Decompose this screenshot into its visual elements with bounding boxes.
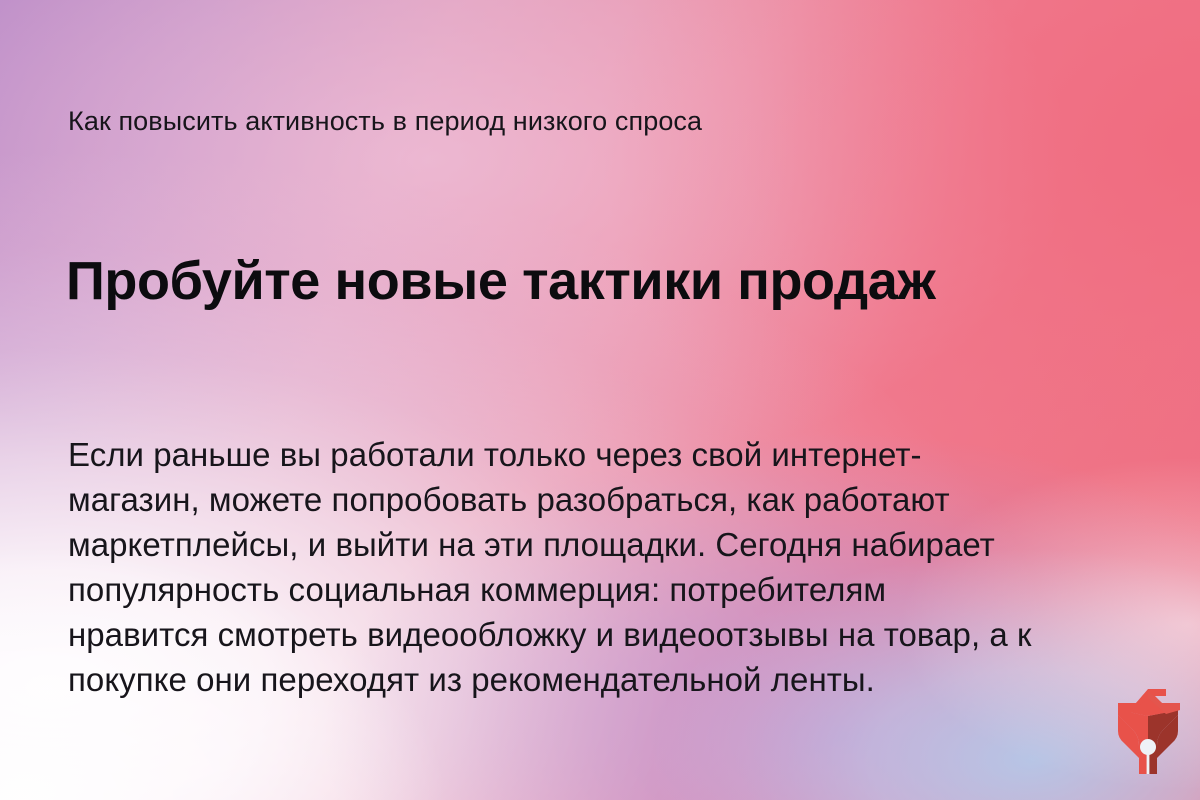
body-line: нравится смотреть видеообложку и видеоот… <box>68 612 1128 657</box>
body-line: маркетплейсы, и выйти на эти площадки. С… <box>68 522 1128 567</box>
slide-eyebrow: Как повысить активность в период низкого… <box>68 106 702 137</box>
promo-slide: Как повысить активность в период низкого… <box>0 0 1200 800</box>
brand-logo <box>1108 686 1188 774</box>
body-line: Если раньше вы работали только через сво… <box>68 432 1128 477</box>
slide-headline: Пробуйте новые тактики продаж <box>66 250 935 312</box>
slide-content: Как повысить активность в период низкого… <box>0 0 1200 800</box>
pen-nib-book-icon <box>1108 686 1188 774</box>
body-line: популярность социальная коммерция: потре… <box>68 567 1128 612</box>
body-line: магазин, можете попробовать разобраться,… <box>68 477 1128 522</box>
body-line: покупке они переходят из рекомендательно… <box>68 657 1128 702</box>
slide-body-copy: Если раньше вы работали только через сво… <box>68 432 1128 702</box>
logo-nib-slit <box>1147 747 1150 774</box>
